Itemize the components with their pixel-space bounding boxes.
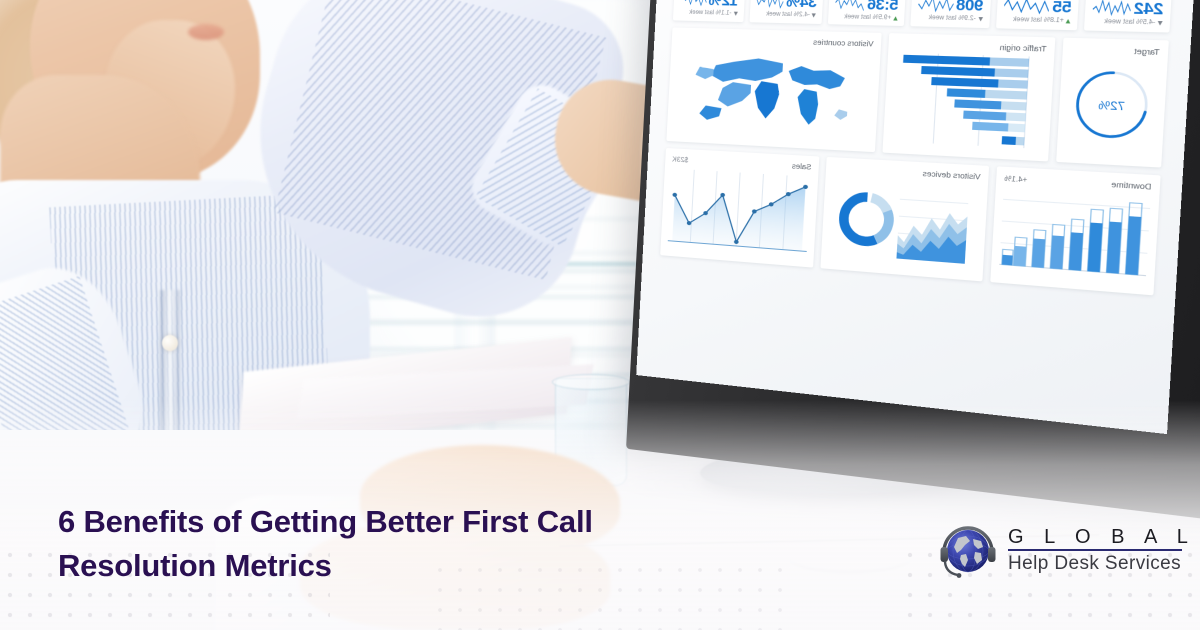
card-title: Sales — [792, 161, 812, 171]
dashboard-bottom-row: Downtime +4.1% — [656, 148, 1165, 296]
card-title: Downtime — [1111, 179, 1152, 191]
sparkline-chart — [835, 0, 864, 12]
sparkline-chart — [1003, 0, 1050, 15]
kpi-card-row: Users 242 — [669, 0, 1177, 33]
kpi-value: 12% — [709, 0, 739, 8]
world-map-chart — [674, 46, 873, 140]
kpi-card-avg-time[interactable]: Avg. time 5:36 — [828, 0, 906, 26]
page-title: 6 Benefits of Getting Better First Call … — [58, 500, 678, 588]
kpi-value: 5:36 — [867, 0, 899, 13]
globe-headset-icon — [937, 519, 999, 581]
card-title: Traffic origin — [999, 43, 1047, 54]
kpi-value: 34% — [786, 0, 817, 10]
kpi-card-new-users[interactable]: New users 55 — [996, 0, 1081, 30]
devices-area-donut-chart — [828, 176, 980, 269]
headline-line-1: 6 Benefits of Getting Better First Call — [58, 500, 678, 544]
kpi-delta: +1.8% last week — [1003, 17, 1071, 25]
kpi-delta: +9.5% last week — [835, 14, 898, 22]
sparkline-chart — [756, 0, 784, 10]
analytics-dashboard: My profile Users — [636, 0, 1197, 434]
kpi-delta-text: -4.5% last week — [1104, 19, 1155, 27]
kpi-value: 55 — [1052, 0, 1072, 15]
sparkline-chart — [679, 0, 706, 8]
kpi-value-row: 12% — [679, 0, 738, 9]
kpi-card-conversion[interactable]: Conversion 12% — [673, 0, 746, 22]
kpi-delta: -2.9% last week — [917, 15, 983, 23]
logo-wordmark: G L O B A L Help Desk Services — [1008, 526, 1195, 575]
kpi-delta: -4.5% last week — [1092, 18, 1163, 26]
sales-value: $23K — [672, 156, 688, 164]
kpi-card-page-views[interactable]: Page views 908 — [910, 0, 991, 28]
kpi-delta-text: -1.1% last week — [689, 10, 731, 17]
eyeglasses — [790, 545, 910, 573]
social-share-card: My profile Users — [0, 0, 1200, 630]
triangle-down-icon — [1158, 21, 1163, 26]
kpi-value-row: 5:36 — [835, 0, 899, 13]
kpi-delta-text: +9.5% last week — [844, 14, 891, 21]
triangle-up-icon — [1066, 19, 1071, 24]
downtime-delta: +4.1% — [1004, 175, 1027, 184]
card-visitors-devices[interactable]: Visitors devices — [820, 157, 989, 282]
downtime-bar-chart — [999, 186, 1151, 282]
kpi-value-row: 34% — [756, 0, 817, 10]
kpi-delta: -1.1% last week — [679, 9, 738, 16]
kpi-value: 908 — [956, 0, 984, 13]
kpi-value-row: 242 — [1092, 0, 1164, 18]
shirt-button — [162, 335, 178, 351]
kpi-value-row: 55 — [1003, 0, 1072, 16]
kpi-card-users[interactable]: Users 242 — [1084, 0, 1172, 33]
computer-monitor: My profile Users — [640, 0, 1200, 450]
card-traffic-origin[interactable]: Traffic origin — [882, 33, 1055, 161]
card-header: Traffic origin — [896, 40, 1047, 54]
kpi-delta: -4.2% last week — [755, 11, 816, 19]
triangle-down-icon — [978, 17, 983, 21]
triangle-up-icon — [893, 16, 898, 20]
brand-logo[interactable]: G L O B A L Help Desk Services — [937, 519, 1195, 581]
triangle-down-icon — [812, 13, 816, 17]
card-downtime[interactable]: Downtime +4.1% — [990, 166, 1160, 295]
logo-tagline: Help Desk Services — [1008, 553, 1195, 574]
card-target[interactable]: Target 72% — [1056, 38, 1169, 168]
logo-divider — [1008, 549, 1182, 551]
kpi-value: 242 — [1134, 0, 1164, 17]
target-value: 72% — [1098, 99, 1126, 114]
logo-brand-name: G L O B A L — [1008, 526, 1195, 548]
sparkline-chart — [1092, 0, 1131, 17]
water-glass-rim — [552, 374, 630, 390]
target-donut-chart: 72% — [1065, 58, 1159, 153]
kpi-card-bounce-rate[interactable]: Bounce rate 34% — [749, 0, 824, 24]
triangle-down-icon — [733, 12, 737, 16]
card-header: Target — [1071, 45, 1160, 58]
card-visitors-countries[interactable]: Visitors countries — [666, 27, 881, 152]
traffic-bar-chart — [891, 52, 1046, 149]
card-title: Visitors devices — [922, 169, 980, 182]
kpi-delta-text: +1.8% last week — [1013, 17, 1064, 25]
woman-lips — [188, 24, 224, 40]
card-sales[interactable]: Sales $23K — [660, 148, 819, 268]
headline-line-2: Resolution Metrics — [58, 544, 678, 588]
dashboard-middle-row: Target 72% Traffic origin — [662, 27, 1173, 167]
card-title: Target — [1134, 46, 1160, 57]
kpi-delta-text: -4.2% last week — [766, 11, 810, 18]
sales-line-chart — [668, 166, 811, 255]
monitor-screen: My profile Users — [636, 0, 1197, 434]
kpi-delta-text: -2.9% last week — [928, 15, 976, 23]
kpi-value-row: 908 — [918, 0, 984, 14]
card-title: Visitors countries — [813, 37, 874, 48]
sparkline-chart — [918, 0, 954, 13]
